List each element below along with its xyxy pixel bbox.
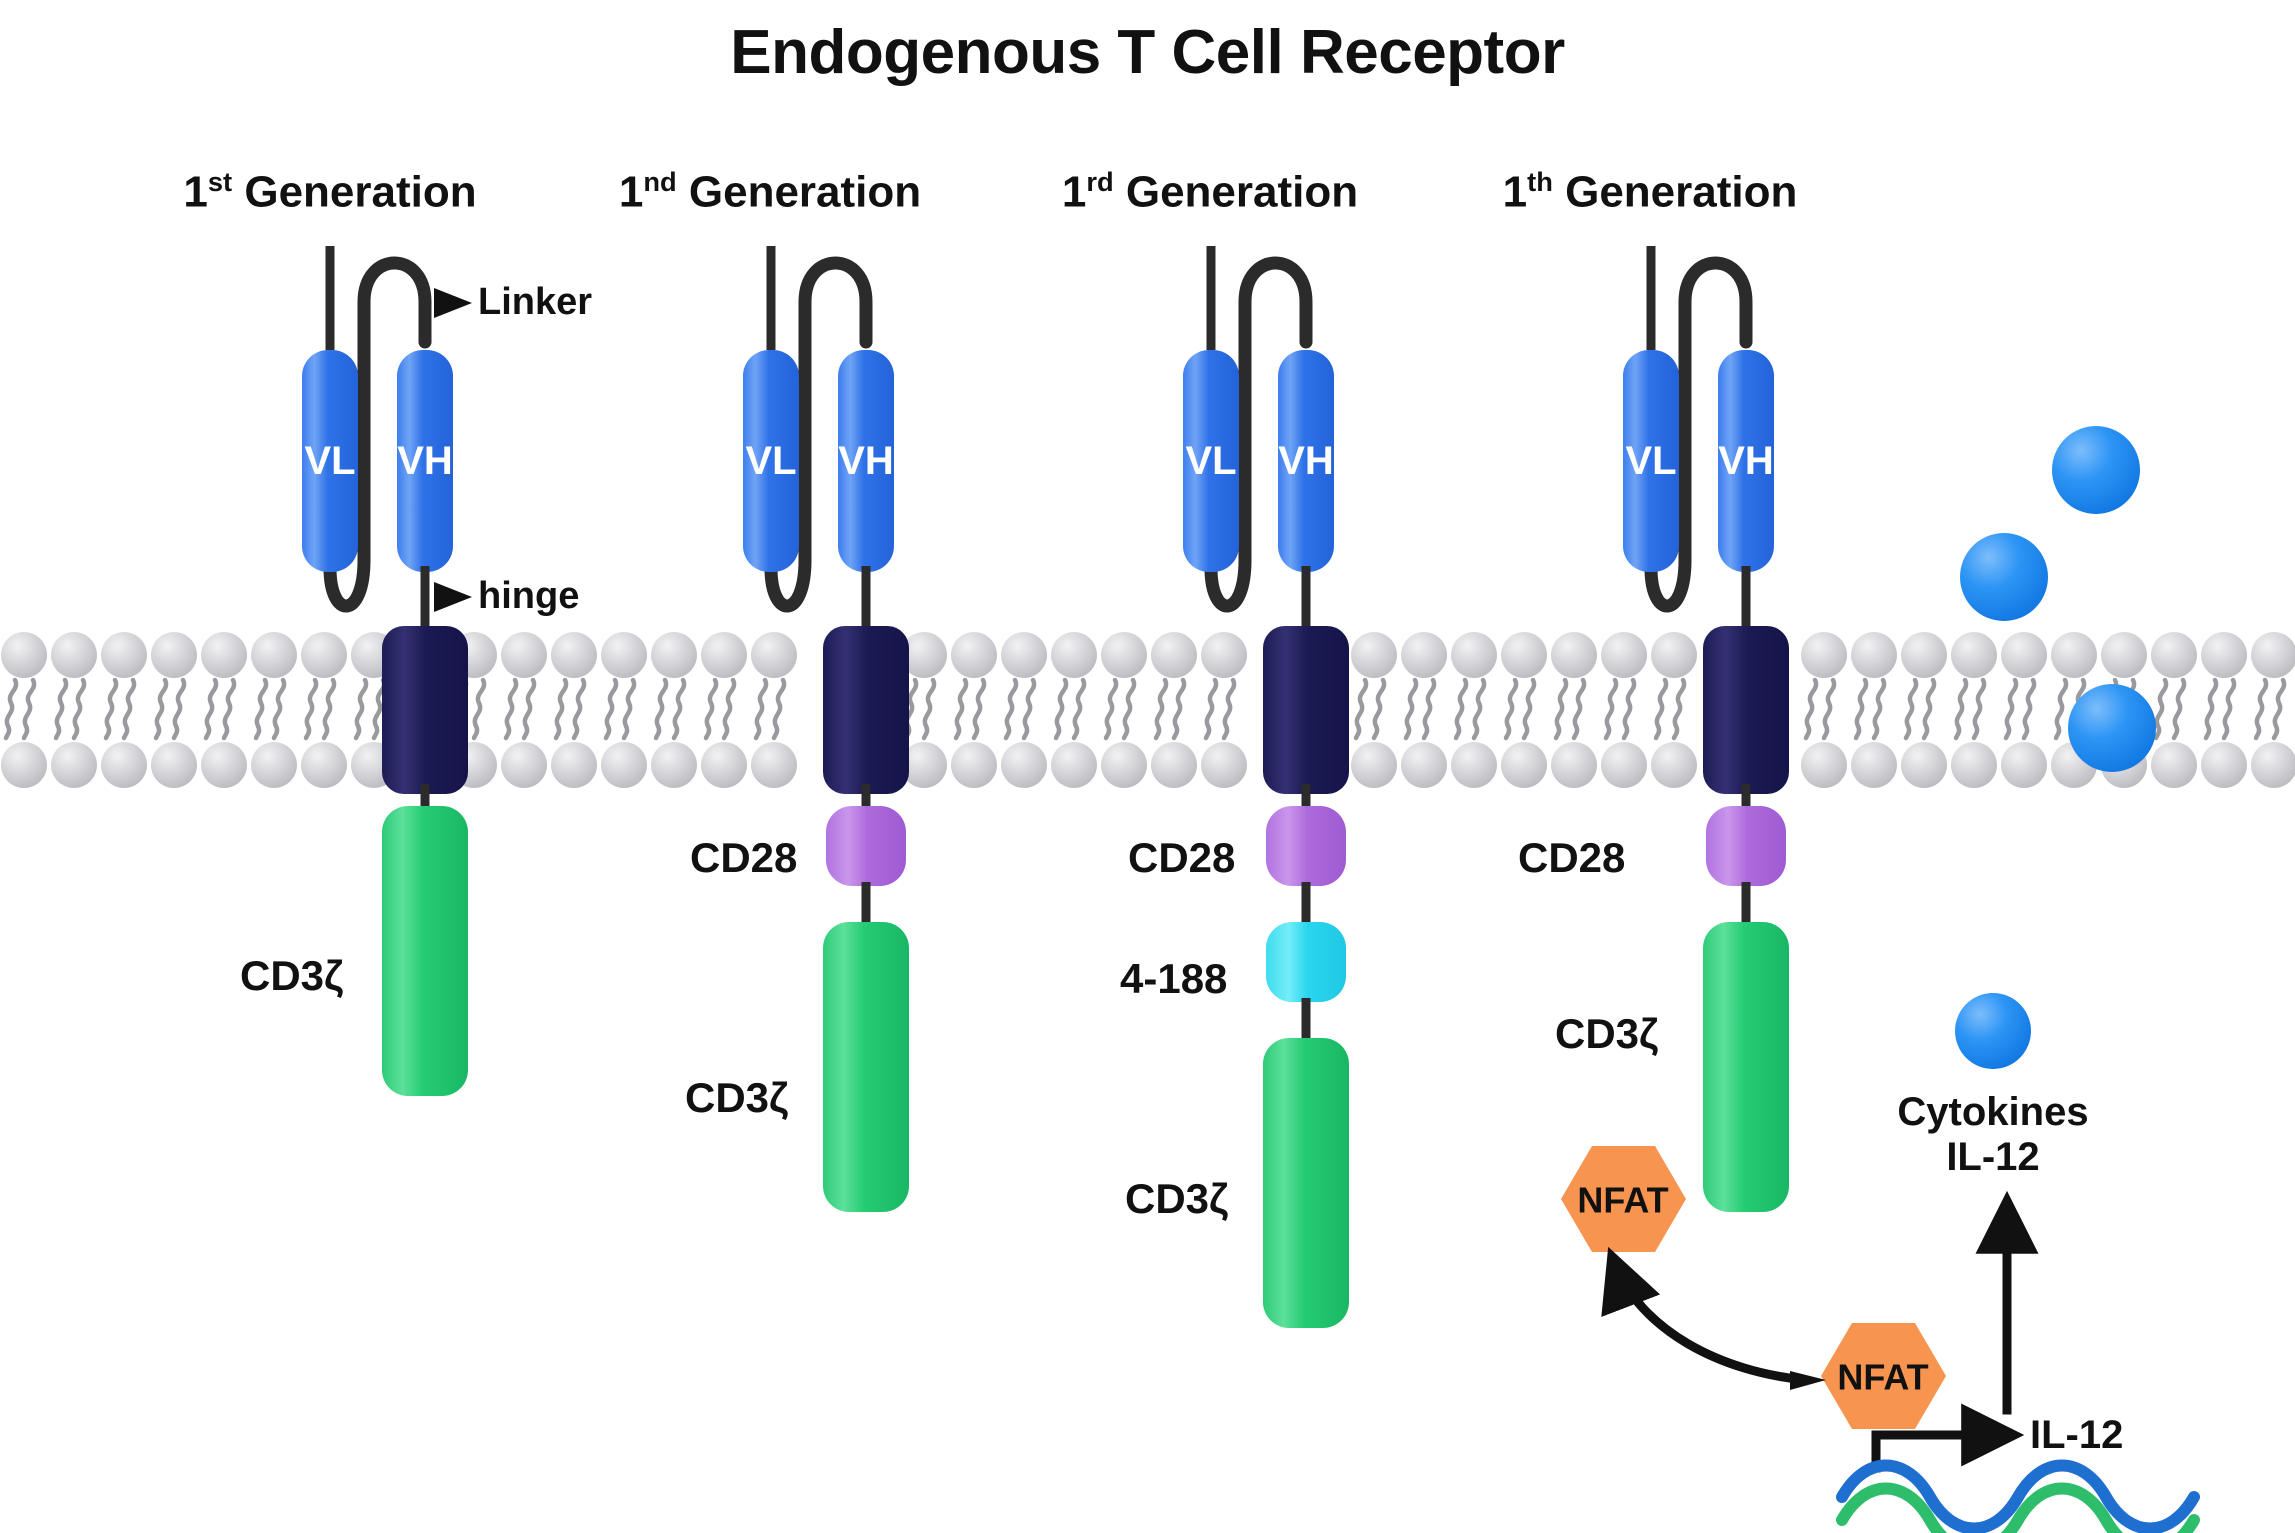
lipid-head — [1951, 742, 1997, 788]
lipid-tail — [1456, 680, 1466, 738]
signaling-domain-cd28 — [826, 806, 906, 886]
lipid-head — [251, 742, 297, 788]
lipid-tail — [1424, 680, 1434, 738]
domain-label-cd28-gen3: CD28 — [1128, 837, 1235, 879]
lipid-head — [1351, 742, 1397, 788]
lipid-head — [1051, 742, 1097, 788]
lipid-tail — [1506, 680, 1516, 738]
lipid-tail — [1906, 680, 1916, 738]
lipid-head — [1051, 632, 1097, 678]
lipid-head — [101, 632, 147, 678]
lipid-tail — [256, 680, 266, 738]
lipid-head — [1651, 632, 1697, 678]
lipid-head — [2251, 632, 2295, 678]
plasma-membrane — [1, 632, 2295, 788]
lipid-head — [1601, 742, 1647, 788]
diagram-canvas: Endogenous T Cell Receptor 1st Generatio… — [0, 0, 2295, 1533]
lipid-tail — [774, 680, 784, 738]
lipid-tail — [474, 680, 484, 738]
lipid-head — [1401, 632, 1447, 678]
lipid-tail — [224, 680, 234, 738]
lipid-head — [101, 742, 147, 788]
lipid-head — [2201, 742, 2247, 788]
lipid-tail — [1806, 680, 1816, 738]
lipid-head — [1501, 632, 1547, 678]
receptor-gen-2: VLVH — [743, 246, 909, 1212]
lipid-head — [201, 632, 247, 678]
vl-chain-label: VL — [1625, 439, 1676, 483]
signaling-domain-4188 — [1266, 922, 1346, 1002]
lipid-head — [2101, 632, 2147, 678]
lipid-head — [1951, 632, 1997, 678]
domain-label-cd3z-gen1: CD3ζ — [240, 955, 343, 997]
hinge-pointer-icon — [434, 582, 472, 612]
lipid-head — [1501, 742, 1547, 788]
lipid-tail — [1156, 680, 1166, 738]
vl-chain-label: VL — [304, 439, 355, 483]
diagram-svg: VLVHVLVHVLVHVLVH NFAT NFAT — [0, 0, 2295, 1533]
lipid-head — [1001, 632, 1047, 678]
lipid-tail — [6, 680, 16, 738]
nfat-arrowhead — [1790, 1371, 1826, 1390]
lipid-head — [1, 742, 47, 788]
lipid-tail — [606, 680, 616, 738]
transmembrane-domain — [1263, 626, 1349, 794]
lipid-head — [951, 742, 997, 788]
lipid-tail — [1374, 680, 1384, 738]
lipid-tail — [1574, 680, 1584, 738]
nfat-hexagon-nucleus: NFAT — [1821, 1323, 1946, 1429]
lipid-tail — [2224, 680, 2234, 738]
lipid-tail — [1824, 680, 1834, 738]
lipid-tail — [1356, 680, 1366, 738]
lipid-head — [301, 632, 347, 678]
lipid-head — [1451, 632, 1497, 678]
lipid-head — [551, 632, 597, 678]
nfat-hexagon-cytoplasm: NFAT — [1561, 1146, 1686, 1252]
lipid-tail — [356, 680, 366, 738]
lipid-tail — [56, 680, 66, 738]
lipid-tail — [2024, 680, 2034, 738]
transmembrane-domain — [382, 626, 468, 794]
lipid-head — [1451, 742, 1497, 788]
lipid-head — [1851, 742, 1897, 788]
lipid-head — [201, 742, 247, 788]
signaling-domain-cd3 — [1263, 1038, 1349, 1328]
lipid-tail — [1024, 680, 1034, 738]
signaling-domain-cd3 — [823, 922, 909, 1212]
cytokine-sphere-in-membrane — [2068, 684, 2156, 772]
linker-pointer-icon — [434, 288, 472, 318]
lipid-tail — [124, 680, 134, 738]
vh-chain-label: VH — [1278, 439, 1334, 483]
lipid-tail — [174, 680, 184, 738]
cytokine-sphere — [2052, 426, 2140, 514]
lipid-tail — [1206, 680, 1216, 738]
lipid-tail — [1956, 680, 1966, 738]
signaling-domain-cd28 — [1706, 806, 1786, 886]
vh-chain-label: VH — [397, 439, 453, 483]
vl-chain-label: VL — [1185, 439, 1236, 483]
hinge-label: hinge — [478, 577, 579, 615]
nfat-nucleus-label: NFAT — [1837, 1357, 1928, 1398]
lipid-tail — [1006, 680, 1016, 738]
domain-label-cd28-gen2: CD28 — [690, 837, 797, 879]
lipid-tail — [1074, 680, 1084, 738]
lipid-tail — [2256, 680, 2266, 738]
lipid-head — [1801, 742, 1847, 788]
lipid-head — [551, 742, 597, 788]
lipid-tail — [1124, 680, 1134, 738]
lipid-tail — [206, 680, 216, 738]
lipid-tail — [756, 680, 766, 738]
domain-label-4188-gen3: 4-188 — [1120, 958, 1227, 1000]
lipid-head — [151, 742, 197, 788]
lipid-tail — [1856, 680, 1866, 738]
lipid-tail — [1056, 680, 1066, 738]
lipid-tail — [724, 680, 734, 738]
lipid-head — [1551, 742, 1597, 788]
lipid-tail — [924, 680, 934, 738]
cytokines-legend-line1: Cytokines — [1843, 1090, 2143, 1135]
lipid-head — [651, 742, 697, 788]
lipid-tail — [74, 680, 84, 738]
lipid-head — [301, 742, 347, 788]
lipid-head — [751, 742, 797, 788]
lipid-tail — [956, 680, 966, 738]
lipid-tail — [574, 680, 584, 738]
nfat-signaling: NFAT NFAT — [1561, 1146, 2194, 1533]
lipid-tail — [1974, 680, 1984, 738]
lipid-head — [1101, 632, 1147, 678]
lipid-tail — [1106, 680, 1116, 738]
lipid-tail — [1224, 680, 1234, 738]
lipid-tail — [1924, 680, 1934, 738]
lipid-tail — [706, 680, 716, 738]
lipid-tail — [1556, 680, 1566, 738]
domain-label-cd28-gen4: CD28 — [1518, 837, 1625, 879]
cytokine-sphere-legend — [1955, 993, 2031, 1069]
signaling-domain-cd28 — [1266, 806, 1346, 886]
lipid-head — [501, 742, 547, 788]
signaling-domain-cd3 — [382, 806, 468, 1096]
lipid-tail — [2174, 680, 2184, 738]
lipid-tail — [324, 680, 334, 738]
lipid-head — [1601, 632, 1647, 678]
lipid-head — [1, 632, 47, 678]
lipid-head — [1151, 742, 1197, 788]
lipid-head — [951, 632, 997, 678]
lipid-tail — [106, 680, 116, 738]
lipid-tail — [2006, 680, 2016, 738]
lipid-head — [251, 632, 297, 678]
lipid-head — [1101, 742, 1147, 788]
lipid-tail — [24, 680, 34, 738]
lipid-head — [1151, 632, 1197, 678]
signaling-domain-cd3 — [1703, 922, 1789, 1212]
cytokines-legend: Cytokines IL-12 — [1843, 1090, 2143, 1180]
vh-chain-label: VH — [838, 439, 894, 483]
lipid-tail — [2056, 680, 2066, 738]
lipid-tail — [2274, 680, 2284, 738]
lipid-head — [1901, 742, 1947, 788]
vl-chain-label: VL — [745, 439, 796, 483]
lipid-tail — [156, 680, 166, 738]
lipid-head — [701, 742, 747, 788]
lipid-tail — [1174, 680, 1184, 738]
lipid-head — [1201, 742, 1247, 788]
linker-label: Linker — [478, 283, 592, 321]
lipid-tail — [524, 680, 534, 738]
nfat-translocation-arrow — [1614, 1262, 1806, 1380]
receptor-gen-4: VLVH — [1623, 246, 1789, 1212]
lipid-head — [1201, 632, 1247, 678]
domain-label-cd3z-gen4: CD3ζ — [1555, 1013, 1658, 1055]
domain-label-cd3z-gen2: CD3ζ — [685, 1077, 788, 1119]
lipid-tail — [1406, 680, 1416, 738]
lipid-head — [1351, 632, 1397, 678]
lipid-tail — [674, 680, 684, 738]
lipid-tail — [306, 680, 316, 738]
lipid-head — [2051, 632, 2097, 678]
lipid-tail — [1474, 680, 1484, 738]
lipid-head — [51, 632, 97, 678]
lipid-head — [1651, 742, 1697, 788]
lipid-head — [2251, 742, 2295, 788]
gene-label-il12: IL-12 — [2030, 1415, 2123, 1455]
lipid-head — [601, 632, 647, 678]
cytokines-legend-line2: IL-12 — [1843, 1135, 2143, 1180]
lipid-head — [2151, 742, 2197, 788]
lipid-head — [501, 632, 547, 678]
transmembrane-domain — [823, 626, 909, 794]
lipid-head — [1001, 742, 1047, 788]
lipid-head — [51, 742, 97, 788]
lipid-head — [751, 632, 797, 678]
cytokine-sphere — [1960, 533, 2048, 621]
lipid-tail — [1624, 680, 1634, 738]
lipid-head — [1851, 632, 1897, 678]
lipid-tail — [1524, 680, 1534, 738]
lipid-tail — [1656, 680, 1666, 738]
lipid-tail — [2206, 680, 2216, 738]
lipid-tail — [1674, 680, 1684, 738]
lipid-tail — [2156, 680, 2166, 738]
lipid-head — [1551, 632, 1597, 678]
transmembrane-domain — [1703, 626, 1789, 794]
lipid-head — [151, 632, 197, 678]
lipid-tail — [656, 680, 666, 738]
lipid-head — [601, 742, 647, 788]
lipid-head — [2001, 742, 2047, 788]
lipid-tail — [556, 680, 566, 738]
nfat-cytoplasm-label: NFAT — [1577, 1180, 1668, 1221]
lipid-head — [1801, 632, 1847, 678]
lipid-head — [2201, 632, 2247, 678]
domain-label-cd3z-gen3: CD3ζ — [1125, 1178, 1228, 1220]
lipid-head — [651, 632, 697, 678]
lipid-head — [701, 632, 747, 678]
lipid-head — [1901, 632, 1947, 678]
lipid-tail — [624, 680, 634, 738]
lipid-tail — [1874, 680, 1884, 738]
lipid-tail — [1606, 680, 1616, 738]
vh-chain-label: VH — [1718, 439, 1774, 483]
lipid-head — [2151, 632, 2197, 678]
lipid-tail — [274, 680, 284, 738]
lipid-tail — [974, 680, 984, 738]
lipid-head — [2001, 632, 2047, 678]
lipid-head — [1401, 742, 1447, 788]
lipid-tail — [506, 680, 516, 738]
receptor-gen-3: VLVH — [1183, 246, 1349, 1328]
